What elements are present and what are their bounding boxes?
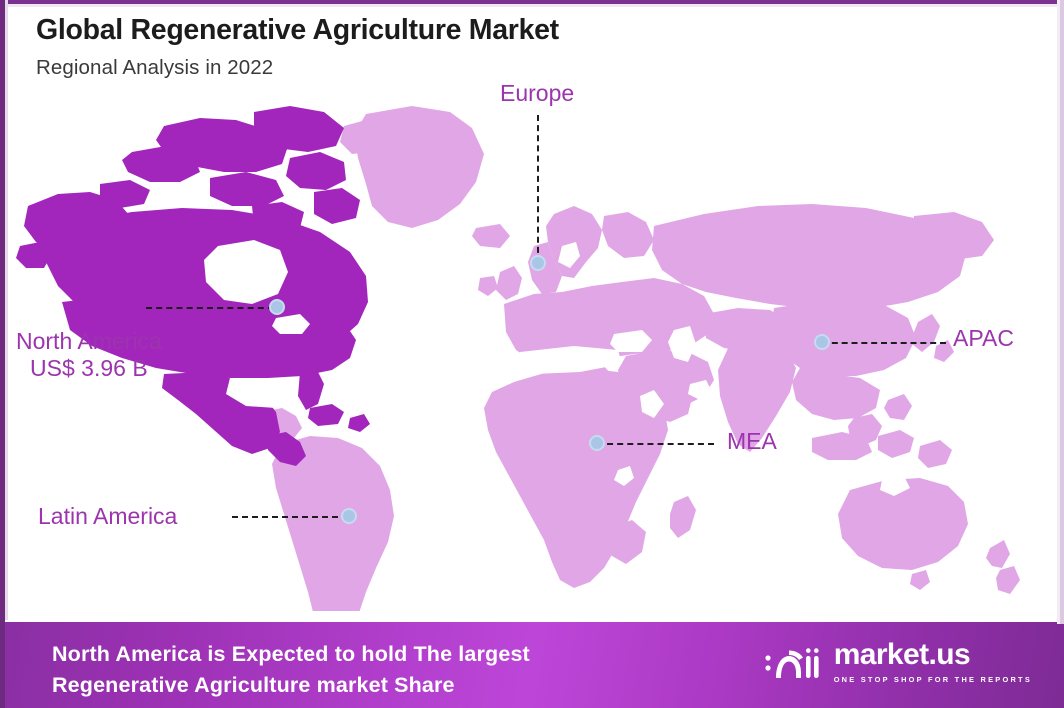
callout-mea: MEA xyxy=(727,428,777,455)
map-marker-latin-america[interactable] xyxy=(341,508,357,524)
frame-left-inner xyxy=(5,0,8,620)
callout-apac: APAC xyxy=(953,325,1014,352)
logo-name: market.us xyxy=(834,640,1032,670)
map-highlight-north-america xyxy=(16,106,370,466)
frame-top-inner xyxy=(8,4,1060,7)
infographic-root: Global Regenerative Agriculture Market R… xyxy=(0,0,1064,708)
map-marker-apac[interactable] xyxy=(814,334,830,350)
page-title: Global Regenerative Agriculture Market xyxy=(36,14,559,47)
footer-banner: North America is Expected to hold The la… xyxy=(0,622,1064,708)
frame-right-inner xyxy=(1057,0,1060,624)
banner-message: North America is Expected to hold The la… xyxy=(52,639,530,700)
market-us-logo-mark xyxy=(764,642,824,682)
brand-logo[interactable]: market.us ONE STOP SHOP FOR THE REPORTS xyxy=(764,640,1032,684)
map-marker-mea[interactable] xyxy=(589,435,605,451)
frame-right-border xyxy=(1060,0,1064,624)
callout-mea-name: MEA xyxy=(727,428,777,455)
map-marker-europe[interactable] xyxy=(530,255,546,271)
callout-north-america-name: North America xyxy=(16,328,162,355)
world-map-svg xyxy=(14,96,1054,611)
map-base-regions xyxy=(258,106,1020,611)
banner-message-line1: North America is Expected to hold The la… xyxy=(52,639,530,670)
header: Global Regenerative Agriculture Market R… xyxy=(36,14,559,80)
callout-latin-america: Latin America xyxy=(38,503,177,530)
callout-apac-name: APAC xyxy=(953,325,1014,352)
callout-north-america: North America US$ 3.96 B xyxy=(16,328,162,382)
map-marker-north-america[interactable] xyxy=(269,299,285,315)
callout-europe-name: Europe xyxy=(500,80,574,107)
callout-europe: Europe xyxy=(500,80,574,107)
banner-message-line2: Regenerative Agriculture market Share xyxy=(52,670,530,701)
logo-wordmark: market.us ONE STOP SHOP FOR THE REPORTS xyxy=(834,640,1032,684)
page-subtitle: Regional Analysis in 2022 xyxy=(36,56,559,80)
callout-latin-america-name: Latin America xyxy=(38,503,177,530)
callout-north-america-value: US$ 3.96 B xyxy=(16,355,162,382)
logo-tagline: ONE STOP SHOP FOR THE REPORTS xyxy=(834,675,1032,684)
